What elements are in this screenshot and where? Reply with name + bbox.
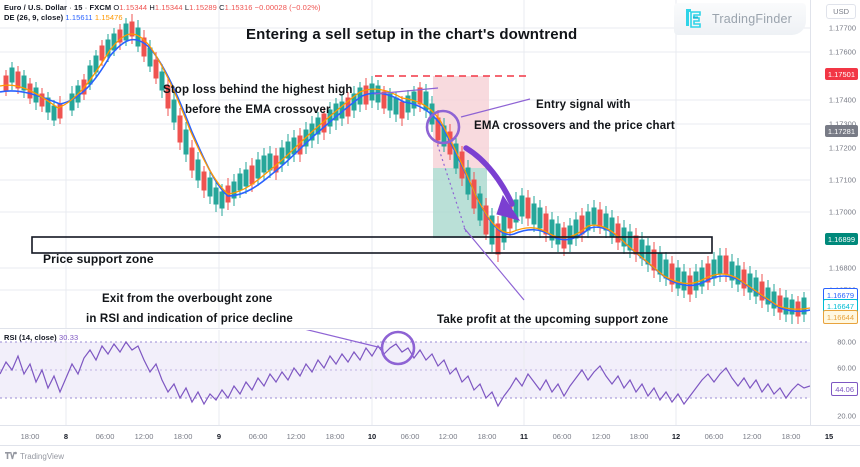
tradingfinder-logo-icon bbox=[682, 7, 706, 31]
time-axis[interactable]: 18:00806:0012:0018:00906:0012:0018:00100… bbox=[0, 425, 860, 445]
time-axis-tick: 15 bbox=[825, 432, 833, 441]
legend-interval[interactable]: 15 bbox=[74, 3, 83, 12]
price-axis-tick: 1.17000 bbox=[829, 208, 856, 217]
time-axis-tick: 18:00 bbox=[630, 432, 649, 441]
price-axis-tick: 1.17400 bbox=[829, 96, 856, 105]
annotation-rsi-exit: Exit from the overbought zone in RSI and… bbox=[86, 289, 293, 329]
time-axis-tick: 18:00 bbox=[782, 432, 801, 441]
time-axis-tick: 11 bbox=[520, 432, 528, 441]
ema-legend-fast-value: 1.15611 bbox=[65, 13, 92, 22]
rsi-canvas[interactable] bbox=[0, 330, 810, 425]
ema-legend-name[interactable]: DE (26, 9, close) bbox=[4, 13, 63, 22]
price-axis-badge[interactable]: 1.17501 bbox=[825, 68, 858, 80]
time-axis-tick: 10 bbox=[368, 432, 376, 441]
price-chart-canvas[interactable] bbox=[0, 0, 810, 328]
price-axis-tick: 1.16800 bbox=[829, 264, 856, 273]
legend-sep-2: · bbox=[83, 3, 90, 12]
tradingview-watermark[interactable]: TradingView bbox=[5, 451, 64, 461]
rsi-axis-tick: 60.00 bbox=[837, 364, 856, 373]
ema-slow-line bbox=[0, 40, 810, 312]
time-axis-tick: 18:00 bbox=[21, 432, 40, 441]
time-axis-tick: 06:00 bbox=[249, 432, 268, 441]
annotation-entry-signal: Entry signal with EMA crossovers and the… bbox=[474, 95, 675, 137]
legend-sep-1: · bbox=[67, 3, 74, 12]
price-axis-badge[interactable]: 1.16899 bbox=[825, 233, 858, 245]
price-axis-right[interactable]: USD 1.177001.176001.174001.173001.172001… bbox=[810, 0, 860, 425]
time-axis-tick: 18:00 bbox=[174, 432, 193, 441]
time-axis-tick: 06:00 bbox=[401, 432, 420, 441]
legend-symbol[interactable]: Euro / U.S. Dollar bbox=[4, 3, 67, 12]
time-axis-tick: 06:00 bbox=[553, 432, 572, 441]
tradingview-watermark-text: TradingView bbox=[20, 452, 64, 461]
price-axis-tick: 1.17700 bbox=[829, 24, 856, 33]
ema-legend-row[interactable]: DE (26, 9, close) 1.15611 1.15476 bbox=[4, 13, 321, 23]
price-axis-tick: 1.17600 bbox=[829, 48, 856, 57]
annotation-stop-loss-line2: before the EMA crossover bbox=[163, 100, 353, 120]
time-axis-tick: 12:00 bbox=[592, 432, 611, 441]
time-axis-tick: 9 bbox=[217, 432, 221, 441]
annotation-support-zone: Price support zone bbox=[43, 252, 154, 266]
time-axis-tick: 12:00 bbox=[135, 432, 154, 441]
annotation-entry-line2: EMA crossovers and the price chart bbox=[474, 116, 675, 137]
tradingfinder-logo-text: TradingFinder bbox=[712, 12, 792, 26]
time-axis-tick: 18:00 bbox=[326, 432, 345, 441]
legend-exchange: FXCM bbox=[90, 3, 112, 12]
tradingfinder-logo: TradingFinder bbox=[674, 3, 806, 35]
time-axis-tick: 12:00 bbox=[287, 432, 306, 441]
time-axis-tick: 8 bbox=[64, 432, 68, 441]
price-chart-pane[interactable]: Euro / U.S. Dollar · 15 · FXCM O1.15344 … bbox=[0, 0, 810, 328]
rsi-pane[interactable]: RSI (14, close) 30.33 bbox=[0, 330, 810, 425]
legend-change-value: −0.00028 (−0.02%) bbox=[255, 3, 321, 12]
price-legend[interactable]: Euro / U.S. Dollar · 15 · FXCM O1.15344 … bbox=[4, 3, 321, 23]
tradingview-logo-icon bbox=[5, 451, 17, 461]
ema-legend-slow-value: 1.15476 bbox=[95, 13, 123, 22]
legend-close-value: 1.15316 bbox=[225, 3, 253, 12]
time-axis-tick: 12:00 bbox=[743, 432, 762, 441]
candlesticks bbox=[4, 14, 806, 324]
price-axis-badge[interactable]: 1.17281 bbox=[825, 125, 858, 137]
rsi-axis-tick: 80.00 bbox=[837, 338, 856, 347]
time-axis-tick: 06:00 bbox=[705, 432, 724, 441]
annotation-take-profit: Take profit at the upcoming support zone bbox=[437, 314, 668, 326]
rsi-legend-name[interactable]: RSI (14, close) bbox=[4, 333, 57, 342]
time-axis-tick: 06:00 bbox=[96, 432, 115, 441]
rsi-axis-badge[interactable]: 44.06 bbox=[831, 382, 858, 396]
annotation-title: Entering a sell setup in the chart's dow… bbox=[246, 26, 577, 43]
annotation-rsi-line2: in RSI and indication of price decline bbox=[86, 309, 293, 329]
chart-screenshot: Euro / U.S. Dollar · 15 · FXCM O1.15344 … bbox=[0, 0, 860, 467]
legend-open-value: 1.15344 bbox=[119, 3, 147, 12]
legend-low-value: 1.15289 bbox=[189, 3, 217, 12]
price-axis-tick: 1.17200 bbox=[829, 144, 856, 153]
rsi-legend[interactable]: RSI (14, close) 30.33 bbox=[4, 333, 78, 343]
legend-high-value: 1.15344 bbox=[155, 3, 183, 12]
annotation-stop-loss-line1: Stop loss behind the highest high bbox=[163, 80, 353, 100]
time-axis-tick: 12:00 bbox=[439, 432, 458, 441]
annotation-rsi-line1: Exit from the overbought zone bbox=[102, 289, 293, 309]
annotation-entry-line1: Entry signal with bbox=[536, 95, 675, 116]
price-axis-tick: 1.17100 bbox=[829, 176, 856, 185]
time-axis-tick: 12 bbox=[672, 432, 680, 441]
currency-chip[interactable]: USD bbox=[826, 4, 856, 19]
price-axis-badge[interactable]: 1.16644 bbox=[823, 310, 858, 324]
rsi-legend-value: 30.33 bbox=[59, 333, 78, 342]
annotation-stop-loss: Stop loss behind the highest high before… bbox=[163, 80, 353, 120]
rsi-axis-tick: 20.00 bbox=[837, 412, 856, 421]
time-axis-tick: 18:00 bbox=[478, 432, 497, 441]
footer-bar bbox=[0, 445, 860, 467]
